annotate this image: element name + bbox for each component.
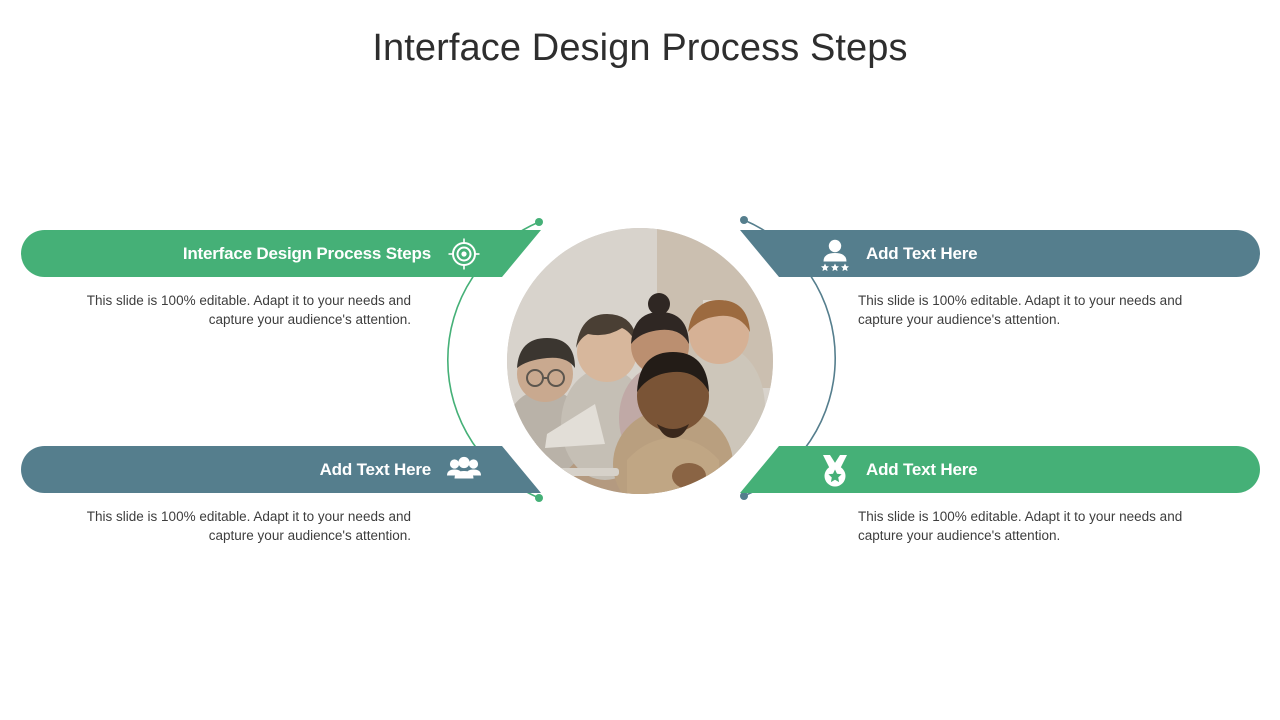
quadrant-body-bottom-right: This slide is 100% editable. Adapt it to…: [858, 508, 1188, 545]
left-arc-bottom-dot: [535, 494, 543, 502]
banner-label-top-left: Interface Design Process Steps: [183, 244, 431, 264]
right-arc-bottom-dot: [740, 492, 748, 500]
quadrant-banner-top-right[interactable]: Add Text Here: [740, 230, 1260, 277]
banner-label-top-right: Add Text Here: [866, 244, 977, 264]
quadrant-banner-bottom-right[interactable]: Add Text Here: [740, 446, 1260, 493]
quadrant-banner-bottom-left[interactable]: Add Text Here: [21, 446, 541, 493]
banner-label-bottom-left: Add Text Here: [320, 460, 431, 480]
user-rating-icon: [818, 237, 852, 271]
left-arc-top-dot: [535, 218, 543, 226]
banner-label-bottom-right: Add Text Here: [866, 460, 977, 480]
quadrant-body-bottom-left: This slide is 100% editable. Adapt it to…: [86, 508, 411, 545]
right-arc-top-dot: [740, 216, 748, 224]
target-icon: [447, 237, 481, 271]
people-group-icon: [447, 453, 481, 487]
team-photo-illustration: [507, 228, 773, 494]
medal-award-icon: [818, 453, 852, 487]
quadrant-banner-top-left[interactable]: Interface Design Process Steps: [21, 230, 541, 277]
team-photo: [507, 228, 773, 494]
quadrant-body-top-left: This slide is 100% editable. Adapt it to…: [86, 292, 411, 329]
quadrant-body-top-right: This slide is 100% editable. Adapt it to…: [858, 292, 1188, 329]
page-title: Interface Design Process Steps: [0, 26, 1280, 72]
